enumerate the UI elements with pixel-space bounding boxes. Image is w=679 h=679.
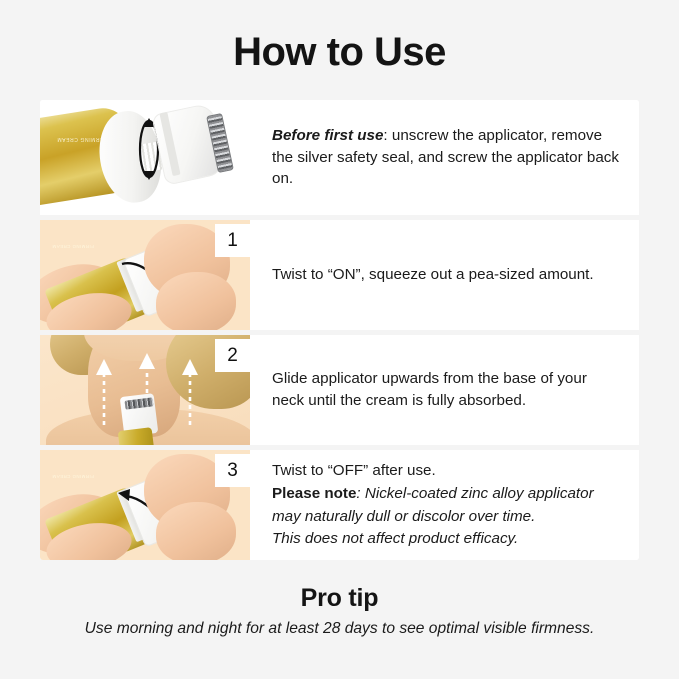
step-note-line: may naturally dull or discolor over time…: [272, 506, 621, 528]
steps-card: FIRMING CREAM Before first use: unscrew …: [40, 100, 639, 560]
how-to-use-infographic: How to Use FIRMING CREAM: [0, 0, 679, 679]
step-row-intro: FIRMING CREAM Before first use: unscrew …: [40, 100, 639, 220]
hands-twisting-applicator-off-illustration: FIRMING CREAM 3: [40, 450, 250, 560]
step-text-line: Glide applicator upwards from the base o…: [272, 368, 621, 411]
step-number-badge: 1: [215, 224, 250, 257]
right-hand-fingers: [156, 272, 236, 330]
note-emphasis: Please note: [272, 485, 356, 502]
step-copy-1: Twist to “ON”, squeeze out a pea-sized a…: [250, 220, 639, 330]
lead-emphasis: Before first use: [272, 127, 383, 144]
step-image-3: FIRMING CREAM 3: [40, 450, 250, 560]
right-hand-fingers: [156, 502, 236, 560]
pro-tip-title: Pro tip: [0, 584, 679, 613]
step-image-1: FIRMING CREAM 1: [40, 220, 250, 330]
applicator-on-neck-illustration: 2: [40, 335, 250, 445]
cream-tube-body: [118, 427, 157, 445]
step-text-line: Before first use: unscrew the applicator…: [272, 125, 621, 190]
step-copy-intro: Before first use: unscrew the applicator…: [250, 100, 639, 215]
tube-brand-label: FIRMING CREAM: [44, 244, 102, 249]
step-copy-2: Glide applicator upwards from the base o…: [250, 335, 639, 445]
pro-tip-text: Use morning and night for at least 28 da…: [0, 620, 679, 638]
step-image-intro: FIRMING CREAM: [40, 100, 250, 215]
step-row-1: FIRMING CREAM 1 Twist to “ON”, squeeze o…: [40, 220, 639, 335]
tube-brand-label: FIRMING CREAM: [44, 474, 102, 479]
step-text-line: Twist to “OFF” after use.: [272, 460, 621, 482]
page-title: How to Use: [0, 30, 679, 75]
step-text-line: Twist to “ON”, squeeze out a pea-sized a…: [272, 264, 621, 286]
step-row-3: FIRMING CREAM 3 Twist to “OFF” after use…: [40, 450, 639, 560]
step-number-badge: 3: [215, 454, 250, 487]
step-copy-3: Twist to “OFF” after use. Please note: N…: [250, 450, 639, 560]
step-note-line: This does not affect product efficacy.: [272, 528, 621, 550]
step-image-2: 2: [40, 335, 250, 445]
step-number-badge: 2: [215, 339, 250, 372]
step-row-2: 2 Glide applicator upwards from the base…: [40, 335, 639, 450]
tube-and-applicator-unscrew-illustration: FIRMING CREAM: [40, 100, 250, 215]
hands-twisting-applicator-on-illustration: FIRMING CREAM 1: [40, 220, 250, 330]
step-note-line: Please note: Nickel-coated zinc alloy ap…: [272, 483, 621, 505]
note-text: Nickel-coated zinc alloy applicator: [361, 485, 594, 502]
